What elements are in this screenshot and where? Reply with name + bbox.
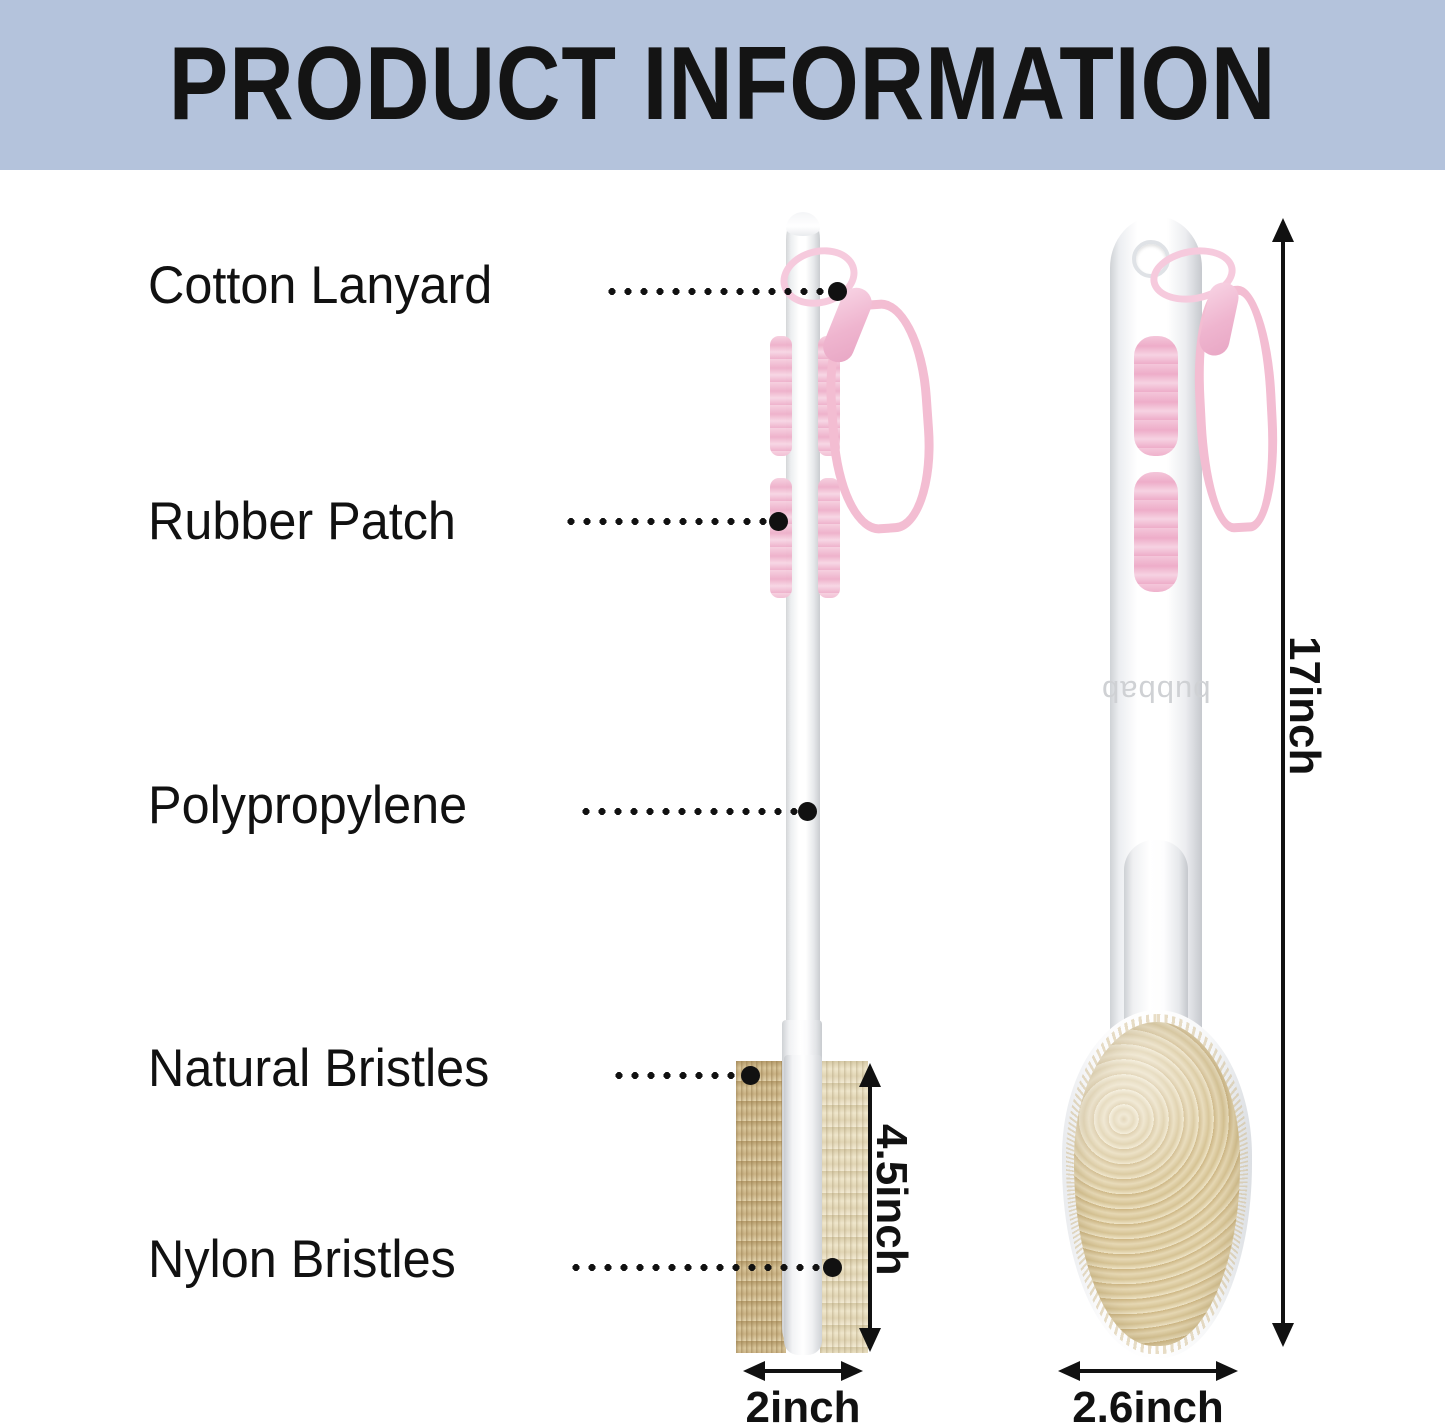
leader-line-cotton-lanyard: [604, 288, 836, 295]
right-brush-lanyard-toggle: [1197, 280, 1242, 359]
left-brush-natural-bristles: [736, 1061, 786, 1353]
leader-dot-rubber-patch: [769, 512, 788, 531]
brand-logo: bubbab: [1124, 636, 1188, 746]
leader-line-natural-bristles: [611, 1072, 747, 1079]
dimension-label-right-head-width: 2.6inch: [1048, 1384, 1248, 1426]
left-brush-head-core: [784, 1055, 822, 1355]
dimension-arrow-left-head-width: [763, 1369, 843, 1373]
leader-dot-nylon-bristles: [823, 1258, 842, 1277]
header-banner: PRODUCT INFORMATION: [0, 0, 1445, 170]
left-brush-lanyard-loop: [820, 297, 940, 537]
left-brush-handle-top: [786, 212, 820, 236]
callout-label-polypropylene: Polypropylene: [148, 778, 467, 834]
left-brush-rubber-patch: [818, 336, 840, 456]
leader-dot-natural-bristles: [741, 1066, 760, 1085]
right-brush-bristle-fuzz: [1066, 1014, 1248, 1354]
product-information-infographic: PRODUCT INFORMATION bubbab Cotton L: [0, 0, 1445, 1426]
right-brush-illustration: bubbab: [0, 0, 1445, 1426]
right-brush-neck: [1124, 840, 1188, 1070]
left-brush-nylon-bristles: [820, 1061, 868, 1353]
brand-logo-text: bubbab: [1101, 673, 1210, 709]
right-brush-lanyard-loop: [1190, 284, 1283, 534]
dimension-label-right-total-height: 17inch: [1281, 636, 1327, 775]
dimension-arrow-right-head-width: [1078, 1369, 1218, 1373]
leader-dot-cotton-lanyard: [828, 282, 847, 301]
callout-label-natural-bristles: Natural Bristles: [148, 1041, 489, 1097]
left-brush-handle: [786, 214, 820, 1074]
left-brush-lanyard-knot: [774, 239, 864, 314]
right-brush-natural-bristles: [1074, 1022, 1240, 1346]
dimension-label-left-head-width: 2inch: [703, 1384, 903, 1426]
right-brush-rubber-patch: [1134, 336, 1178, 456]
dimension-label-left-head-height: 4.5inch: [868, 1124, 914, 1276]
dimension-arrow-right-total-height: [1281, 240, 1285, 1325]
right-brush-handle: [1110, 216, 1202, 1076]
callout-label-nylon-bristles: Nylon Bristles: [148, 1232, 456, 1288]
left-brush-lanyard-toggle: [819, 283, 877, 367]
left-brush-handle-lower: [782, 1020, 822, 1350]
callout-label-rubber-patch: Rubber Patch: [148, 494, 456, 550]
right-brush-head-plate: [1062, 1010, 1252, 1358]
right-brush-hang-hole: [1132, 240, 1170, 278]
left-brush-rubber-patch: [818, 478, 840, 598]
left-brush-rubber-patch: [770, 478, 792, 598]
leader-line-polypropylene: [578, 808, 806, 815]
leader-dot-polypropylene: [798, 802, 817, 821]
leader-line-nylon-bristles: [568, 1264, 830, 1271]
page-title: PRODUCT INFORMATION: [101, 24, 1344, 144]
right-brush-lanyard-knot: [1146, 241, 1240, 309]
left-brush-rubber-patch: [770, 336, 792, 456]
leader-line-rubber-patch: [563, 518, 775, 525]
callout-label-cotton-lanyard: Cotton Lanyard: [148, 258, 492, 314]
left-brush-illustration: [0, 0, 1445, 1426]
right-brush-rubber-patch: [1134, 472, 1178, 592]
